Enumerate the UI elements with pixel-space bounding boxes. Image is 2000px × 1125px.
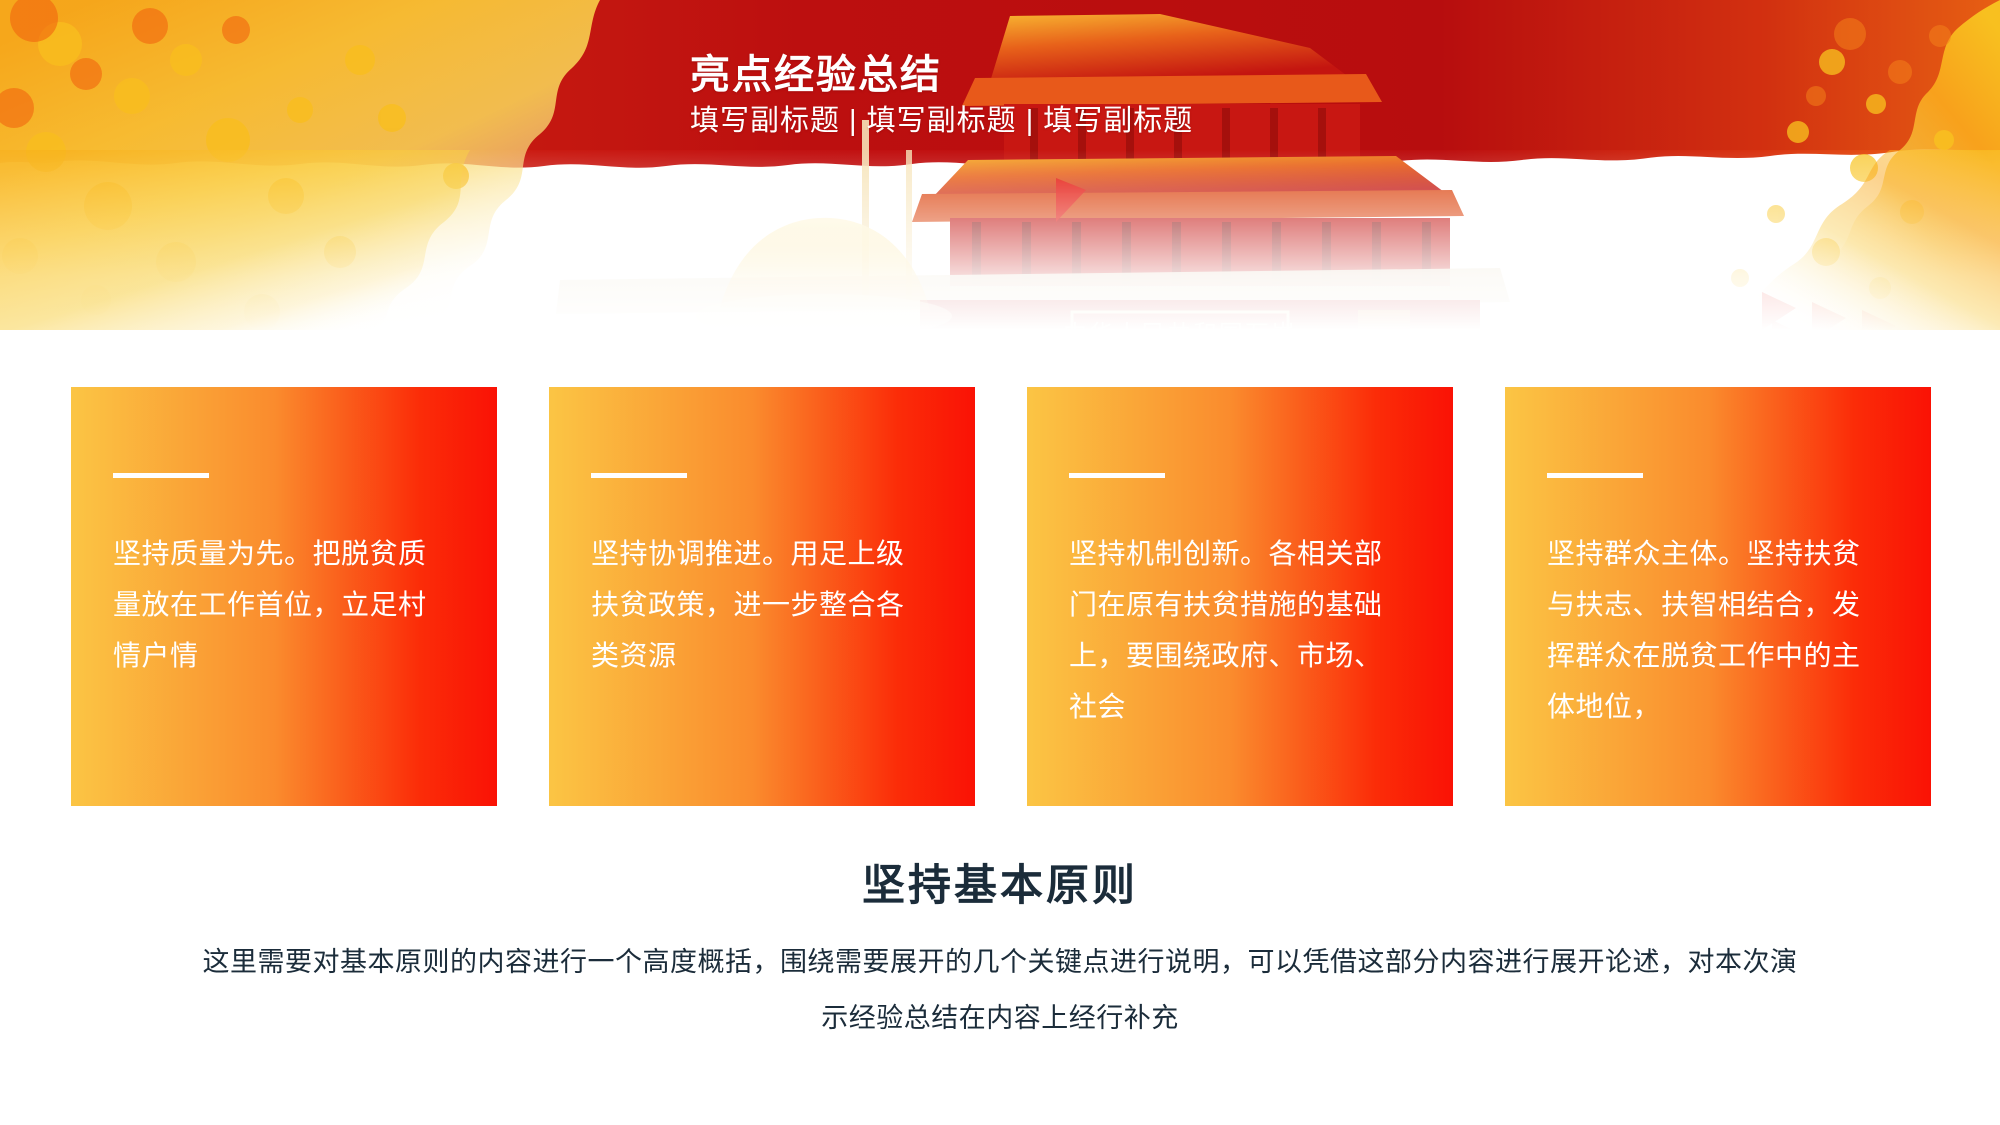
highlight-card-4[interactable]: 坚持群众主体。坚持扶贫与扶志、扶智相结合，发挥群众在脱贫工作中的主体地位，	[1505, 387, 1931, 806]
highlight-card-2[interactable]: 坚持协调推进。用足上级扶贫政策，进一步整合各类资源	[549, 387, 975, 806]
highlight-card-row: 坚持质量为先。把脱贫质量放在工作首位，立足村情户情 坚持协调推进。用足上级扶贫政…	[71, 387, 1931, 806]
footer-body-text: 这里需要对基本原则的内容进行一个高度概括，围绕需要展开的几个关键点进行说明，可以…	[190, 934, 1810, 1046]
page-title: 亮点经验总结	[690, 52, 1193, 98]
accent-bar-icon	[591, 473, 687, 478]
banner-artwork-image: 中华人民共和国万岁	[0, 0, 2000, 330]
card-text: 坚持机制创新。各相关部门在原有扶贫措施的基础上，要围绕政府、市场、社会	[1069, 528, 1395, 732]
highlight-card-3[interactable]: 坚持机制创新。各相关部门在原有扶贫措施的基础上，要围绕政府、市场、社会	[1027, 387, 1453, 806]
accent-bar-icon	[1069, 473, 1165, 478]
card-text: 坚持协调推进。用足上级扶贫政策，进一步整合各类资源	[591, 528, 917, 681]
title-block: 亮点经验总结 填写副标题 | 填写副标题 | 填写副标题	[690, 52, 1193, 139]
card-text: 坚持质量为先。把脱贫质量放在工作首位，立足村情户情	[113, 528, 439, 681]
accent-bar-icon	[1547, 473, 1643, 478]
slide-canvas: 中华人民共和国万岁	[0, 0, 2000, 1125]
footer-heading: 坚持基本原则	[0, 860, 2000, 914]
card-text: 坚持群众主体。坚持扶贫与扶志、扶智相结合，发挥群众在脱贫工作中的主体地位，	[1547, 528, 1873, 732]
page-subtitle: 填写副标题 | 填写副标题 | 填写副标题	[690, 104, 1193, 139]
header-banner: 中华人民共和国万岁	[0, 0, 2000, 330]
highlight-card-1[interactable]: 坚持质量为先。把脱贫质量放在工作首位，立足村情户情	[71, 387, 497, 806]
footer-section: 坚持基本原则 这里需要对基本原则的内容进行一个高度概括，围绕需要展开的几个关键点…	[0, 860, 2000, 1046]
accent-bar-icon	[113, 473, 209, 478]
